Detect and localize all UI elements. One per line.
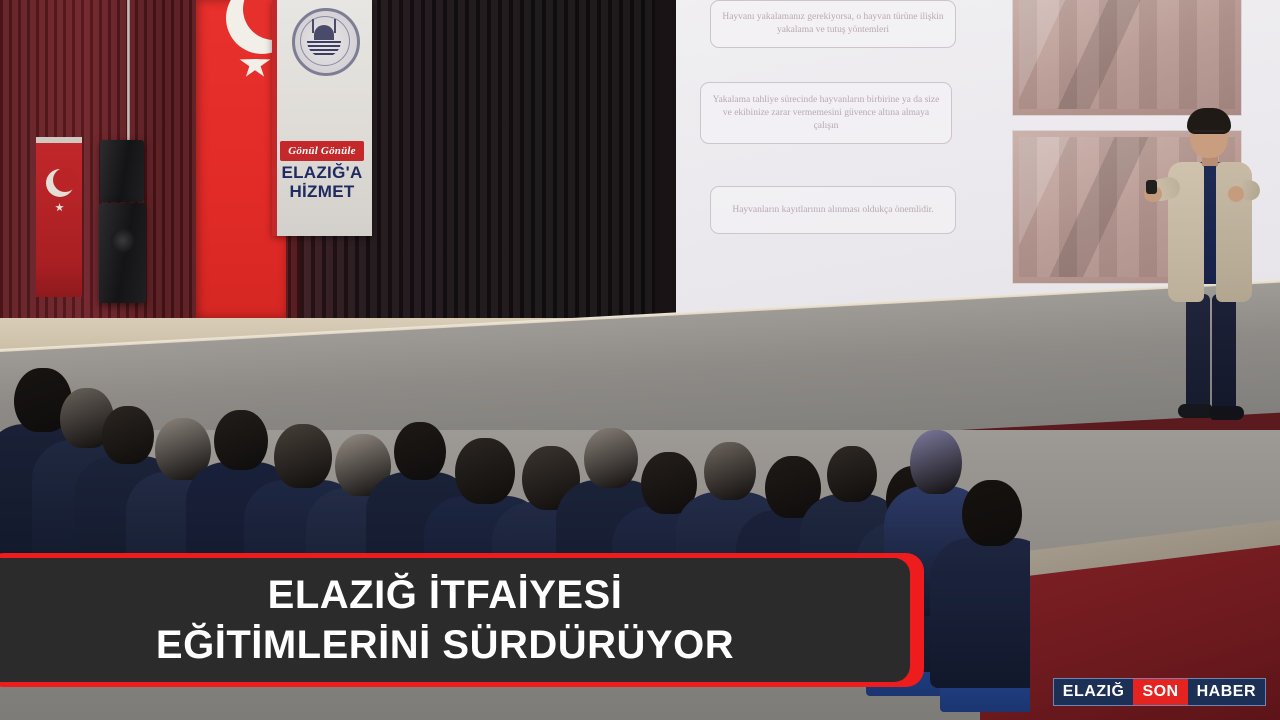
banner-title: ELAZIĞ'A HİZMET [272,163,372,201]
star-icon-small [55,203,64,212]
watermark-part-1: ELAZIĞ [1054,679,1134,705]
banner-slogan-badge: Gönül Gönüle [280,141,364,161]
slide-text-1: Hayvanı yakalamanız gerekiyorsa, o hayva… [720,11,946,37]
banner-title-line2: HİZMET [272,182,372,201]
attendee [102,406,154,464]
flag-pole [127,0,130,145]
emblem-minaret-right [334,19,336,33]
slide-text-box-1: Hayvanı yakalamanız gerekiyorsa, o hayva… [710,0,956,48]
emblem-dome [314,25,334,40]
attendee [704,442,756,500]
slide-text-box-3: Hayvanların kayıtlarının alınması oldukç… [710,186,956,234]
crescent-icon-small [46,169,74,197]
attendee [584,428,638,488]
attendee [214,410,268,470]
banner-slogan-text: Gönül Gönüle [288,145,356,157]
slide-text-3: Hayvanların kayıtlarının alınması oldukç… [732,204,933,217]
slide-photo-top [1012,0,1242,116]
presenter-hand-right [1228,186,1244,202]
municipality-banner: Gönül Gönüle ELAZIĞ'A HİZMET [272,0,372,236]
pa-speaker-bottom [99,203,146,303]
attendee [274,424,332,488]
attendee [962,480,1022,546]
presentation-clicker [1146,180,1157,194]
presenter-leg-right [1212,294,1236,410]
attendee [455,438,515,504]
elazig-municipality-emblem-icon [292,8,360,76]
attendee [827,446,877,502]
slide-text-box-2: Yakalama tahliye sürecinde hayvanların b… [700,82,952,144]
presenter [1152,112,1262,422]
banner-title-line1: ELAZIĞ'A [272,163,372,182]
slide-text-2: Yakalama tahliye sürecinde hayvanların b… [710,94,942,133]
glasses-icon [1192,130,1226,139]
presenter-leg-left [1186,294,1210,410]
attendee [394,422,446,480]
presenter-shoe-left [1178,404,1212,418]
headline-line-2: EĞİTİMLERİNİ SÜRDÜRÜYOR [156,620,734,670]
flag-top-bar [36,137,82,143]
star-icon [240,50,271,76]
headline-box: ELAZIĞ İTFAİYESİ EĞİTİMLERİNİ SÜRDÜRÜYOR [0,558,910,682]
attendee-headscarf [910,430,962,494]
pa-speaker-top [100,140,144,202]
turkish-flag-small [36,137,82,297]
watermark-part-3: HABER [1188,679,1265,705]
presenter-shoe-right [1210,406,1244,420]
watermark-logo: ELAZIĞ SON HABER [1053,678,1266,706]
news-photo: Gönül Gönüle ELAZIĞ'A HİZMET Hayvanı yak… [0,0,1280,720]
watermark-part-2: SON [1133,679,1187,705]
headline-line-1: ELAZIĞ İTFAİYESİ [268,570,623,620]
attendee-body [930,538,1030,688]
